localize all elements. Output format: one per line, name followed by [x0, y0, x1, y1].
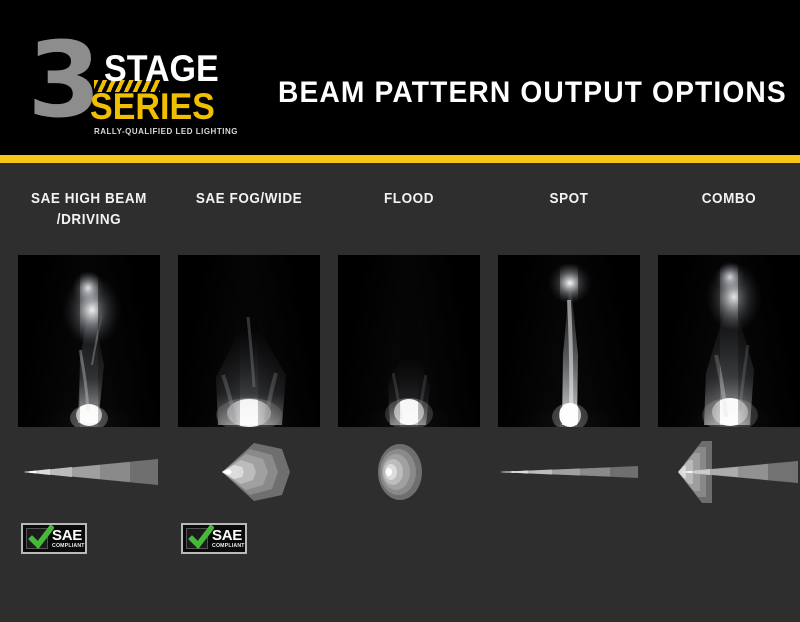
beam-pattern-chart: 3 STAGE SERIES RALLY-QUALIFIED LED LIGHT…	[0, 0, 800, 622]
column-label: SAE FOG/WIDE	[172, 189, 326, 210]
checkbox-frame	[186, 528, 208, 549]
badge-subtitle: COMPLIANT	[52, 544, 85, 549]
beam-spread-diagram-high-beam-driving	[18, 439, 160, 505]
sae-compliant-badge: SAE COMPLIANT	[21, 523, 87, 554]
photo-tree-line-right	[418, 255, 480, 427]
logo-numeral-3: 3	[27, 28, 95, 132]
logo-tagline: RALLY-QUALIFIED LED LIGHTING	[94, 127, 238, 136]
column-spot: SPOT	[498, 163, 640, 622]
checkbox-frame	[26, 528, 48, 549]
badge-text: SAE COMPLIANT	[212, 528, 245, 549]
beam-spread-diagram-fog-wide	[178, 439, 320, 505]
beam-columns: SAE HIGH BEAM /DRIVING	[0, 163, 800, 622]
beam-spread-diagram-combo	[658, 439, 800, 505]
beam-photo-high-beam-driving	[18, 255, 160, 427]
page-title: BEAM PATTERN OUTPUT OPTIONS	[278, 76, 787, 110]
check-icon	[28, 525, 54, 551]
column-label-line2: /DRIVING	[57, 212, 121, 228]
photo-tree-line-left	[178, 255, 240, 427]
column-label: COMBO	[652, 189, 800, 210]
photo-tree-line-right	[98, 255, 160, 427]
badge-title: SAE	[212, 528, 245, 543]
photo-tree-line-left	[18, 255, 80, 427]
column-label-line1: FLOOD	[384, 191, 434, 207]
column-flood: FLOOD	[338, 163, 480, 622]
photo-tree-line-right	[578, 255, 640, 427]
check-icon	[188, 525, 214, 551]
header-bar: 3 STAGE SERIES RALLY-QUALIFIED LED LIGHT…	[0, 0, 800, 155]
beam-photo-combo	[658, 255, 800, 427]
badge-subtitle: COMPLIANT	[212, 544, 245, 549]
photo-tree-line-right	[738, 255, 800, 427]
photo-tree-line-left	[338, 255, 400, 427]
photo-tree-line-left	[658, 255, 720, 427]
beam-photo-flood	[338, 255, 480, 427]
column-label-line1: SAE FOG/WIDE	[196, 191, 302, 207]
photo-tree-line-right	[258, 255, 320, 427]
beam-spread-diagram-spot	[498, 439, 640, 505]
beam-spread-diagram-flood	[338, 439, 480, 505]
badge-text: SAE COMPLIANT	[52, 528, 85, 549]
column-label: SPOT	[492, 189, 646, 210]
stage-series-logo: 3 STAGE SERIES RALLY-QUALIFIED LED LIGHT…	[28, 28, 243, 133]
column-combo: COMBO	[658, 163, 800, 622]
logo-word-stage: STAGE	[104, 50, 219, 87]
accent-divider	[0, 155, 800, 163]
logo-word-series: SERIES	[90, 88, 215, 125]
column-label-line1: SPOT	[550, 191, 589, 207]
column-sae-fog-wide: SAE FOG/WIDE	[178, 163, 320, 622]
beam-photo-fog-wide	[178, 255, 320, 427]
badge-title: SAE	[52, 528, 85, 543]
column-label: SAE HIGH BEAM /DRIVING	[12, 189, 166, 231]
column-label: FLOOD	[332, 189, 486, 210]
sae-compliant-badge: SAE COMPLIANT	[181, 523, 247, 554]
column-sae-high-beam-driving: SAE HIGH BEAM /DRIVING	[18, 163, 160, 622]
photo-tree-line-left	[498, 255, 560, 427]
column-label-line1: COMBO	[702, 191, 756, 207]
beam-photo-spot	[498, 255, 640, 427]
column-label-line1: SAE HIGH BEAM	[31, 191, 147, 207]
